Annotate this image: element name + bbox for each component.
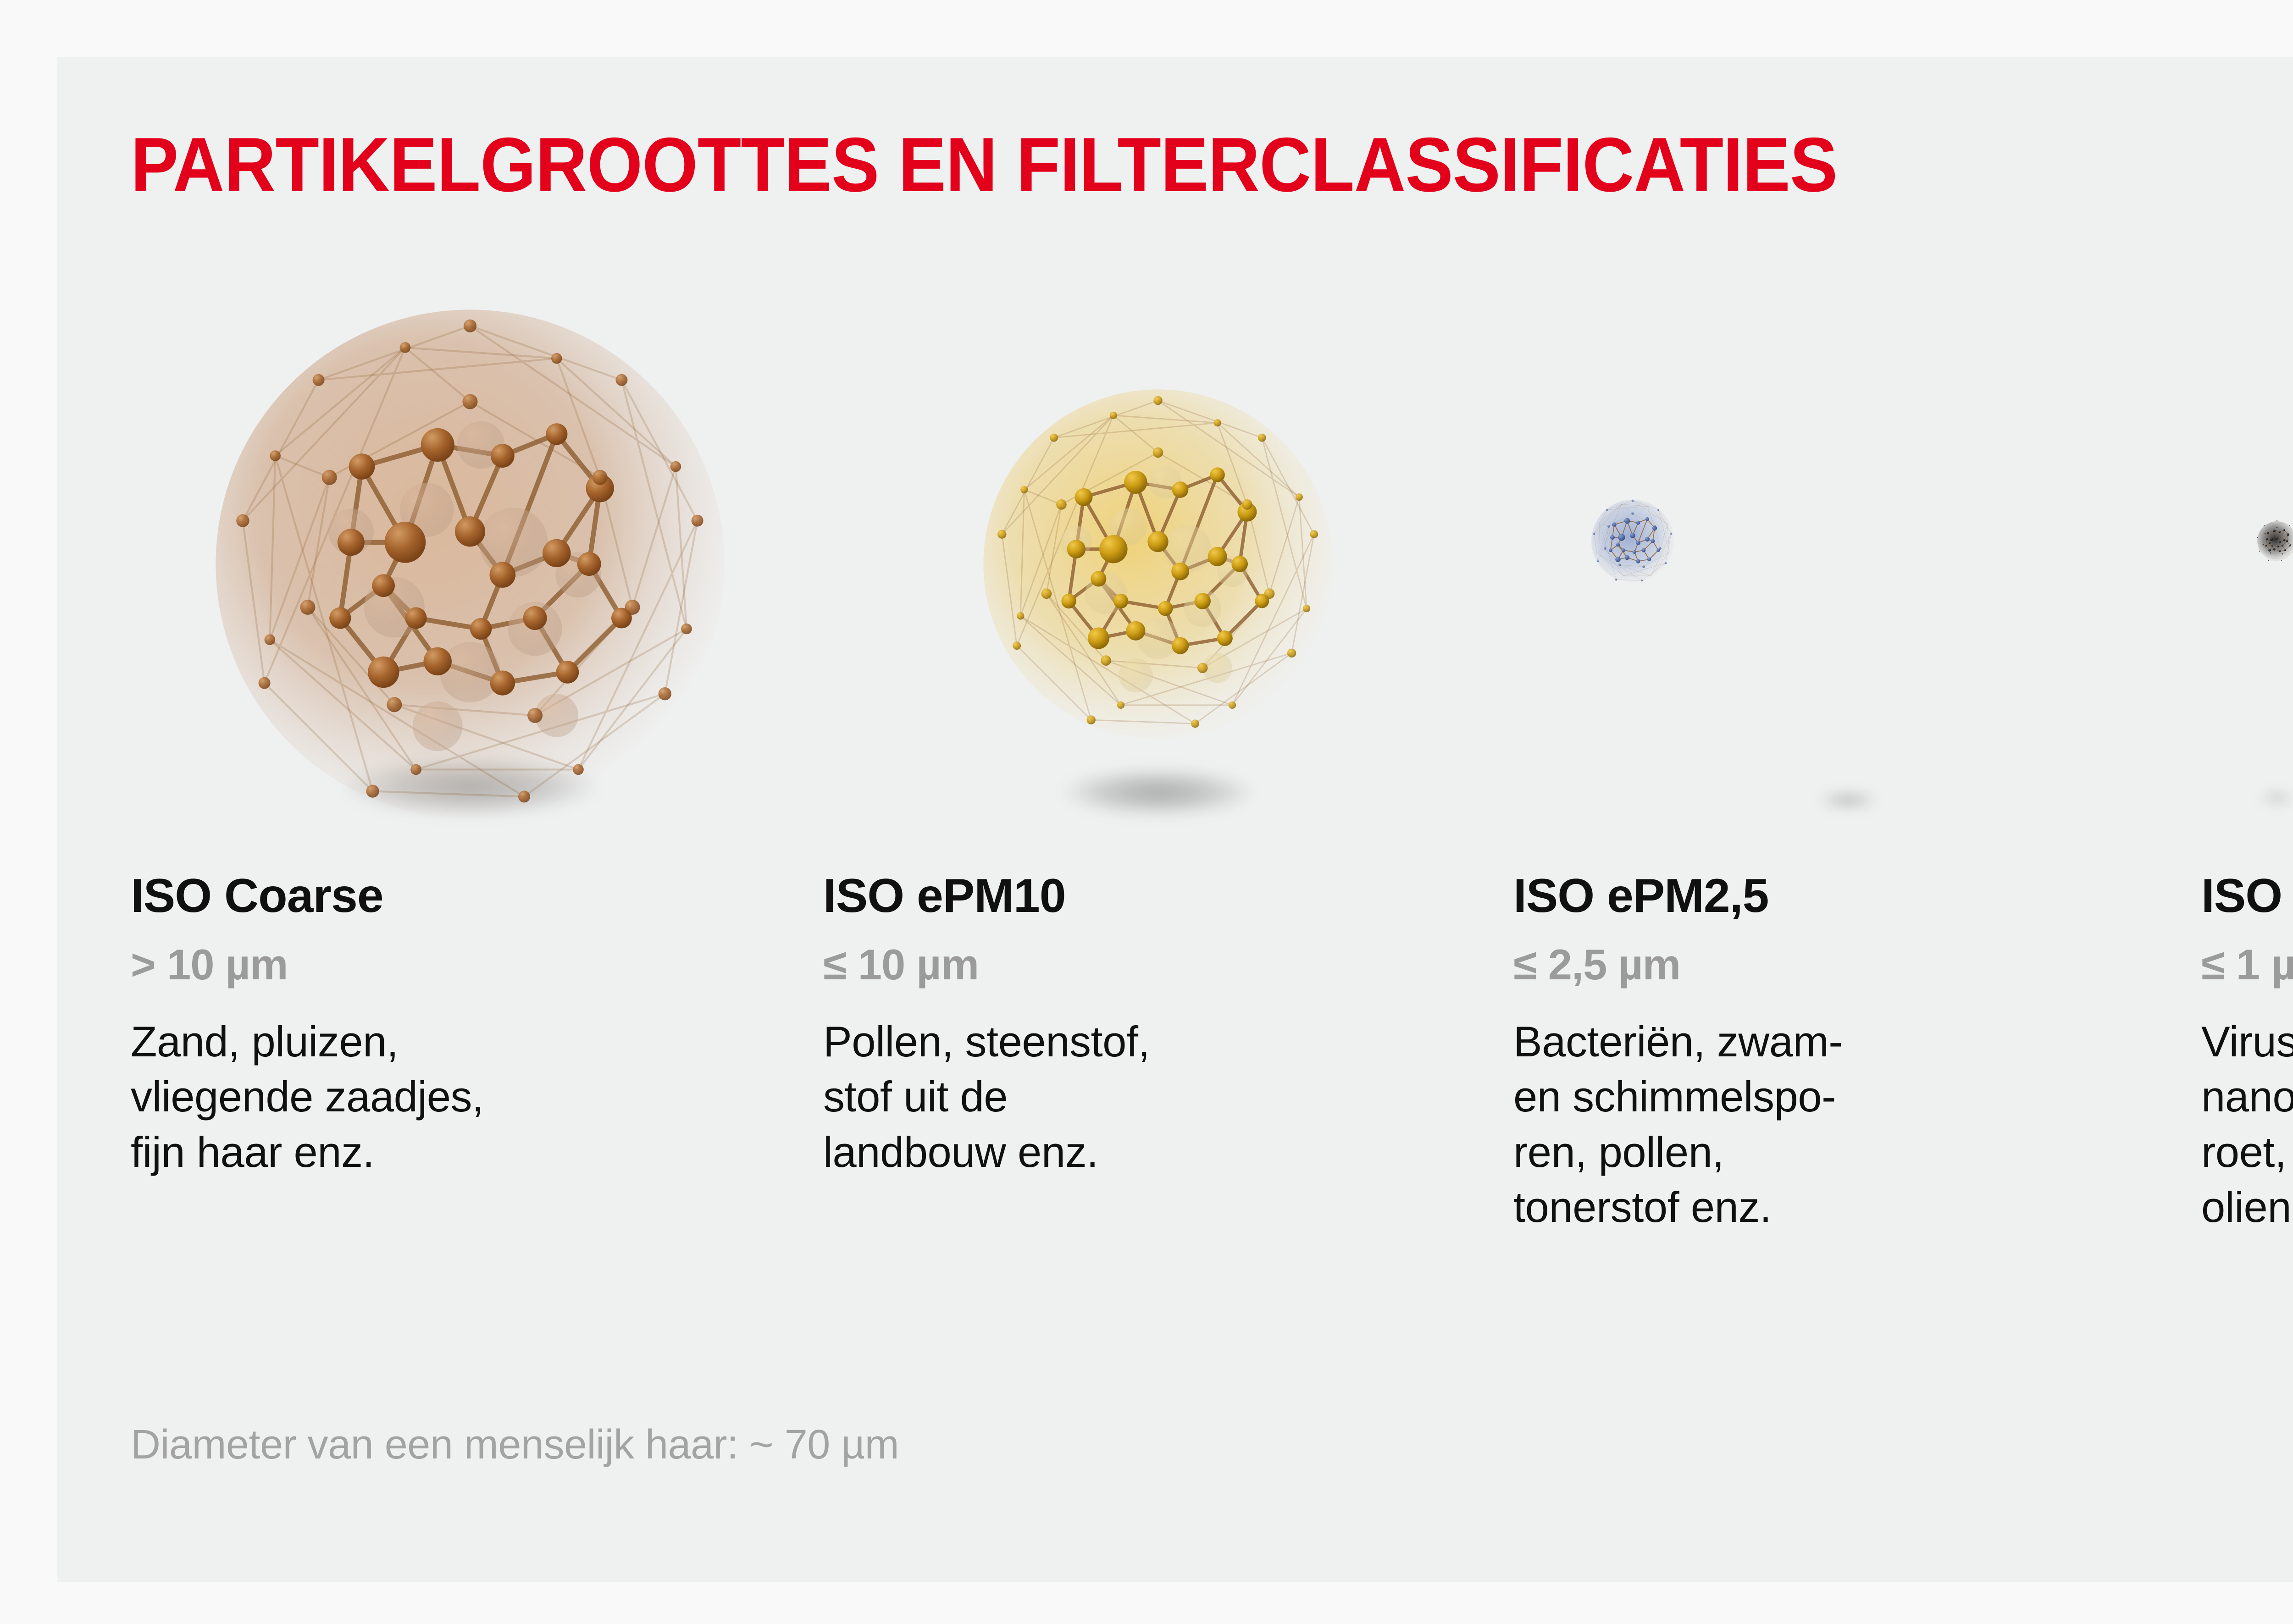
particle-class-column-iso-epm10: ISO ePM10 ≤ 10 µm Pollen, steenstof, sto… (823, 293, 1493, 1180)
epm10-particle-cluster (972, 378, 1344, 750)
column-heading: ISO ePM10 (823, 871, 1493, 921)
column-description: Bacteriën, zwam- en schimmelspo- ren, po… (1513, 1014, 2183, 1235)
particle-class-column-iso-epm25: ISO ePM2,5 ≤ 2,5 µm Bacteriën, zwam- en … (1513, 293, 2183, 1235)
column-description: Virussen, bacteriën, nanodeeltjes, roet,… (2201, 1014, 2293, 1235)
particle-artwork-coarse (131, 293, 809, 871)
column-size-label: > 10 µm (131, 942, 809, 988)
particle-artwork-epm10 (823, 293, 1493, 871)
column-size-label: ≤ 1 µm (2201, 942, 2293, 988)
particle-shadow-epm1 (2261, 793, 2293, 802)
page-title: PARTIKELGROOTTES EN FILTERCLASSIFICATIES (131, 126, 1837, 203)
epm25-particle-cluster (1587, 495, 1678, 587)
coarse-particle-cluster (199, 293, 741, 834)
particle-artwork-epm25 (1513, 293, 2183, 871)
column-heading: ISO Coarse (131, 871, 809, 921)
column-size-label: ≤ 10 µm (823, 942, 1493, 988)
particle-class-column-iso-coarse: ISO Coarse > 10 µm Zand, pluizen, vliege… (131, 293, 809, 1180)
column-description: Pollen, steenstof, stof uit de landbouw … (823, 1014, 1493, 1180)
column-heading: ISO ePM1 (2201, 871, 2293, 921)
particle-shadow-epm25 (1819, 793, 1878, 807)
epm1-particle-cluster (2254, 518, 2293, 564)
particle-class-column-iso-epm1: ISO ePM1 ≤ 1 µm Virussen, bacteriën, nan… (2201, 293, 2293, 1235)
particle-shadow-epm10 (1062, 768, 1254, 816)
column-heading: ISO ePM2,5 (1513, 871, 2183, 921)
column-description: Zand, pluizen, vliegende zaadjes, fijn h… (131, 1014, 809, 1180)
hair-diameter-note: Diameter van een menselijk haar: ~ 70 µm (131, 1421, 899, 1469)
particle-artwork-epm1 (2201, 293, 2293, 871)
column-size-label: ≤ 2,5 µm (1513, 942, 2183, 988)
